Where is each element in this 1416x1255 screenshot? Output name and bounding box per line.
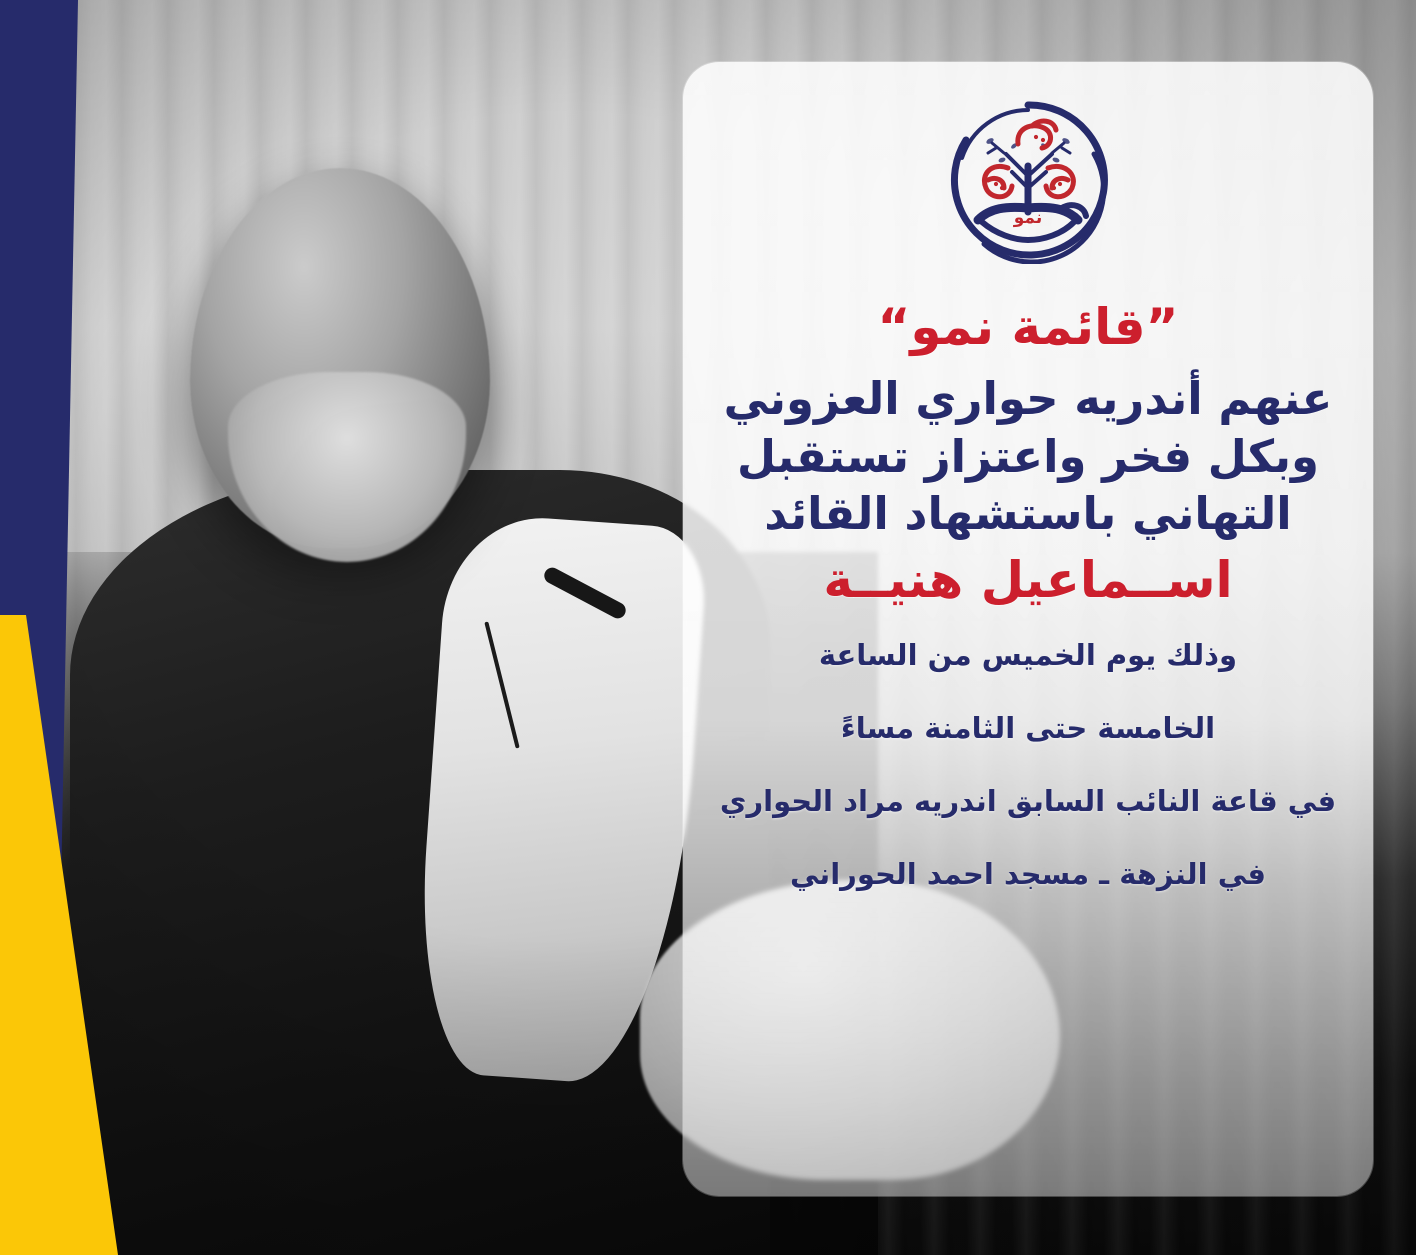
announcement-line-3: التهاني باستشهاد القائد xyxy=(709,485,1347,543)
organization-logo: نمو xyxy=(944,96,1112,264)
event-details: وذلك يوم الخميس من الساعة الخامسة حتى ال… xyxy=(709,641,1347,889)
announcement-text: ”قائمة نمو“ عنهم أندريه حواري العزوني وب… xyxy=(683,300,1373,889)
detail-location: في النزهة ـ مسجد احمد الحوراني xyxy=(709,860,1347,889)
condolence-poster: نمو ”قائمة نمو“ عنهم أندريه حواري العزون… xyxy=(0,0,1416,1255)
detail-day-time: وذلك يوم الخميس من الساعة xyxy=(709,641,1347,670)
detail-hours: الخامسة حتى الثامنة مساءً xyxy=(709,714,1347,743)
announcement-title: ”قائمة نمو“ xyxy=(709,300,1347,354)
announcement-line-2: وبكل فخر واعتزاز تستقبل xyxy=(709,428,1347,486)
announcement-panel: نمو ”قائمة نمو“ عنهم أندريه حواري العزون… xyxy=(683,62,1373,1196)
martyr-name: اســماعيل هنيــة xyxy=(709,553,1347,607)
announcement-line-1: عنهم أندريه حواري العزوني xyxy=(709,370,1347,428)
detail-venue: في قاعة النائب السابق اندريه مراد الحوار… xyxy=(709,787,1347,816)
logo-caption: نمو xyxy=(1013,208,1042,228)
